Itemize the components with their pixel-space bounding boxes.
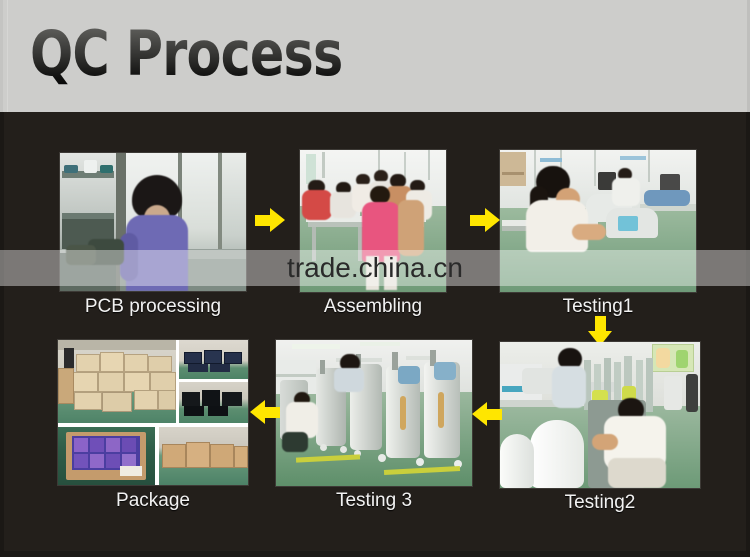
- step-label-testing2: Testing2: [500, 492, 700, 514]
- page-title: QC Process: [30, 18, 342, 90]
- qc-process-infographic: QC Process: [0, 0, 750, 557]
- step-photo-package: [58, 340, 248, 485]
- step-label-testing3: Testing 3: [276, 490, 472, 512]
- step-card-package[interactable]: Package: [58, 340, 248, 512]
- step-label-assembling: Assembling: [300, 296, 446, 318]
- arrow-left-icon-testing3-to-package: [250, 400, 280, 424]
- arrow-right-icon-assembling-to-testing1: [470, 208, 502, 232]
- step-card-testing2[interactable]: Testing2: [500, 342, 700, 514]
- step-label-testing1: Testing1: [500, 296, 696, 318]
- step-card-pcb-processing[interactable]: PCB processing: [60, 153, 246, 318]
- step-photo-testing2: [500, 342, 700, 488]
- header-band: QC Process: [0, 0, 750, 112]
- step-photo-testing3: [276, 340, 472, 486]
- step-photo-pcb-processing: [60, 153, 246, 291]
- step-card-testing3[interactable]: Testing 3: [276, 340, 472, 512]
- step-label-package: Package: [58, 490, 248, 512]
- step-card-assembling[interactable]: Assembling: [300, 150, 446, 318]
- arrow-left-icon-testing2-to-testing3: [472, 402, 502, 426]
- step-label-pcb-processing: PCB processing: [60, 296, 246, 318]
- arrow-right-icon-pcb-to-assembling: [255, 208, 287, 232]
- step-card-testing1[interactable]: Testing1: [500, 150, 696, 318]
- step-photo-testing1: [500, 150, 696, 292]
- step-photo-assembling: [300, 150, 446, 292]
